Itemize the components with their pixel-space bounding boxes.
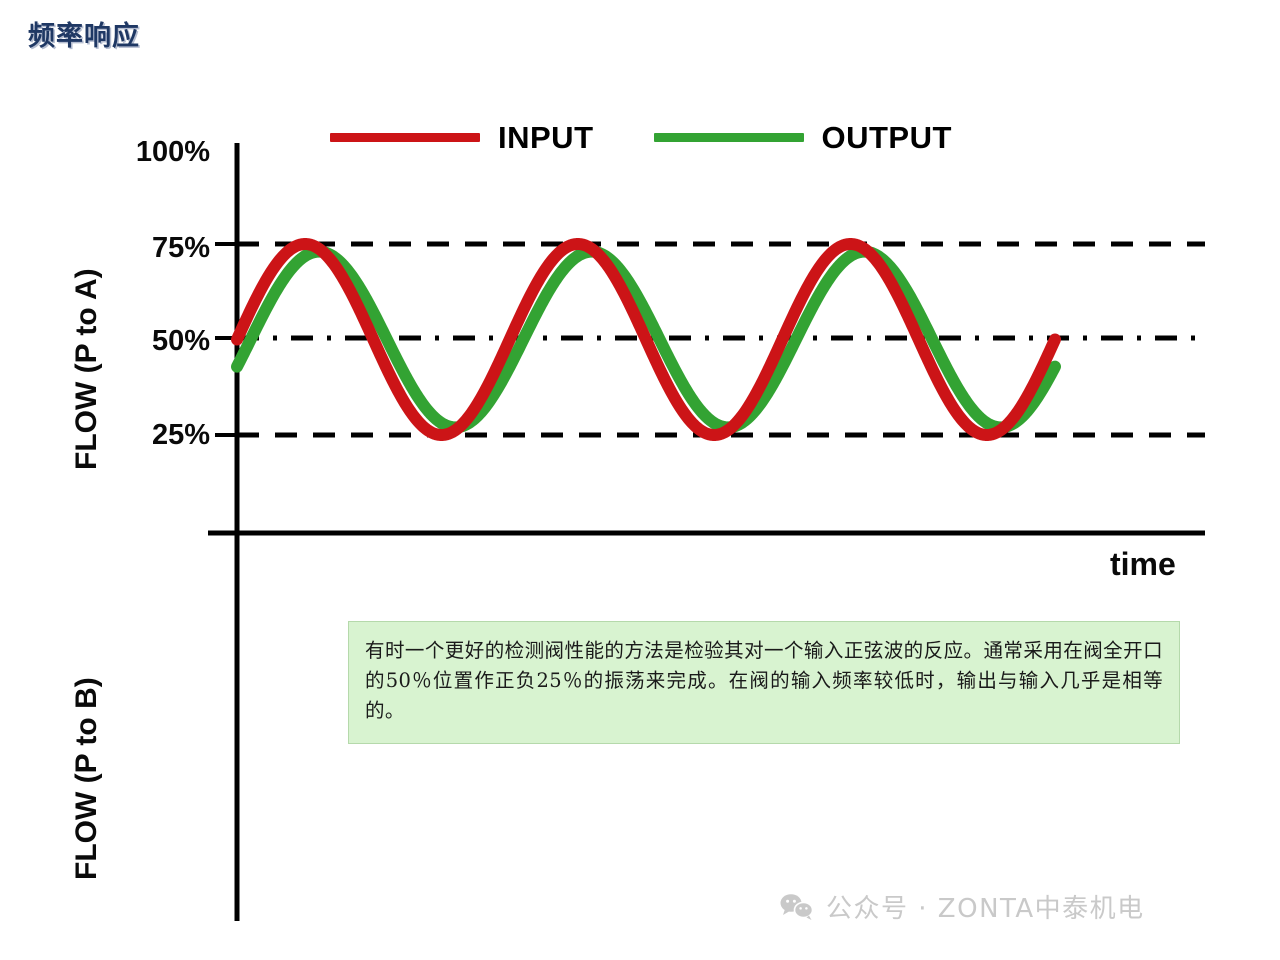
watermark-text: 公众号 · ZONTA中泰机电: [826, 888, 1145, 925]
note-text: 有时一个更好的检测阀性能的方法是检验其对一个输入正弦波的反应。通常采用在阀全开口…: [365, 636, 1163, 727]
wechat-icon: [780, 893, 814, 921]
frequency-response-chart: [0, 0, 1280, 960]
x-axis-title: time: [1110, 546, 1176, 583]
watermark: 公众号 · ZONTA中泰机电: [780, 888, 1145, 925]
note-box: 有时一个更好的检测阀性能的方法是检验其对一个输入正弦波的反应。通常采用在阀全开口…: [348, 621, 1180, 744]
